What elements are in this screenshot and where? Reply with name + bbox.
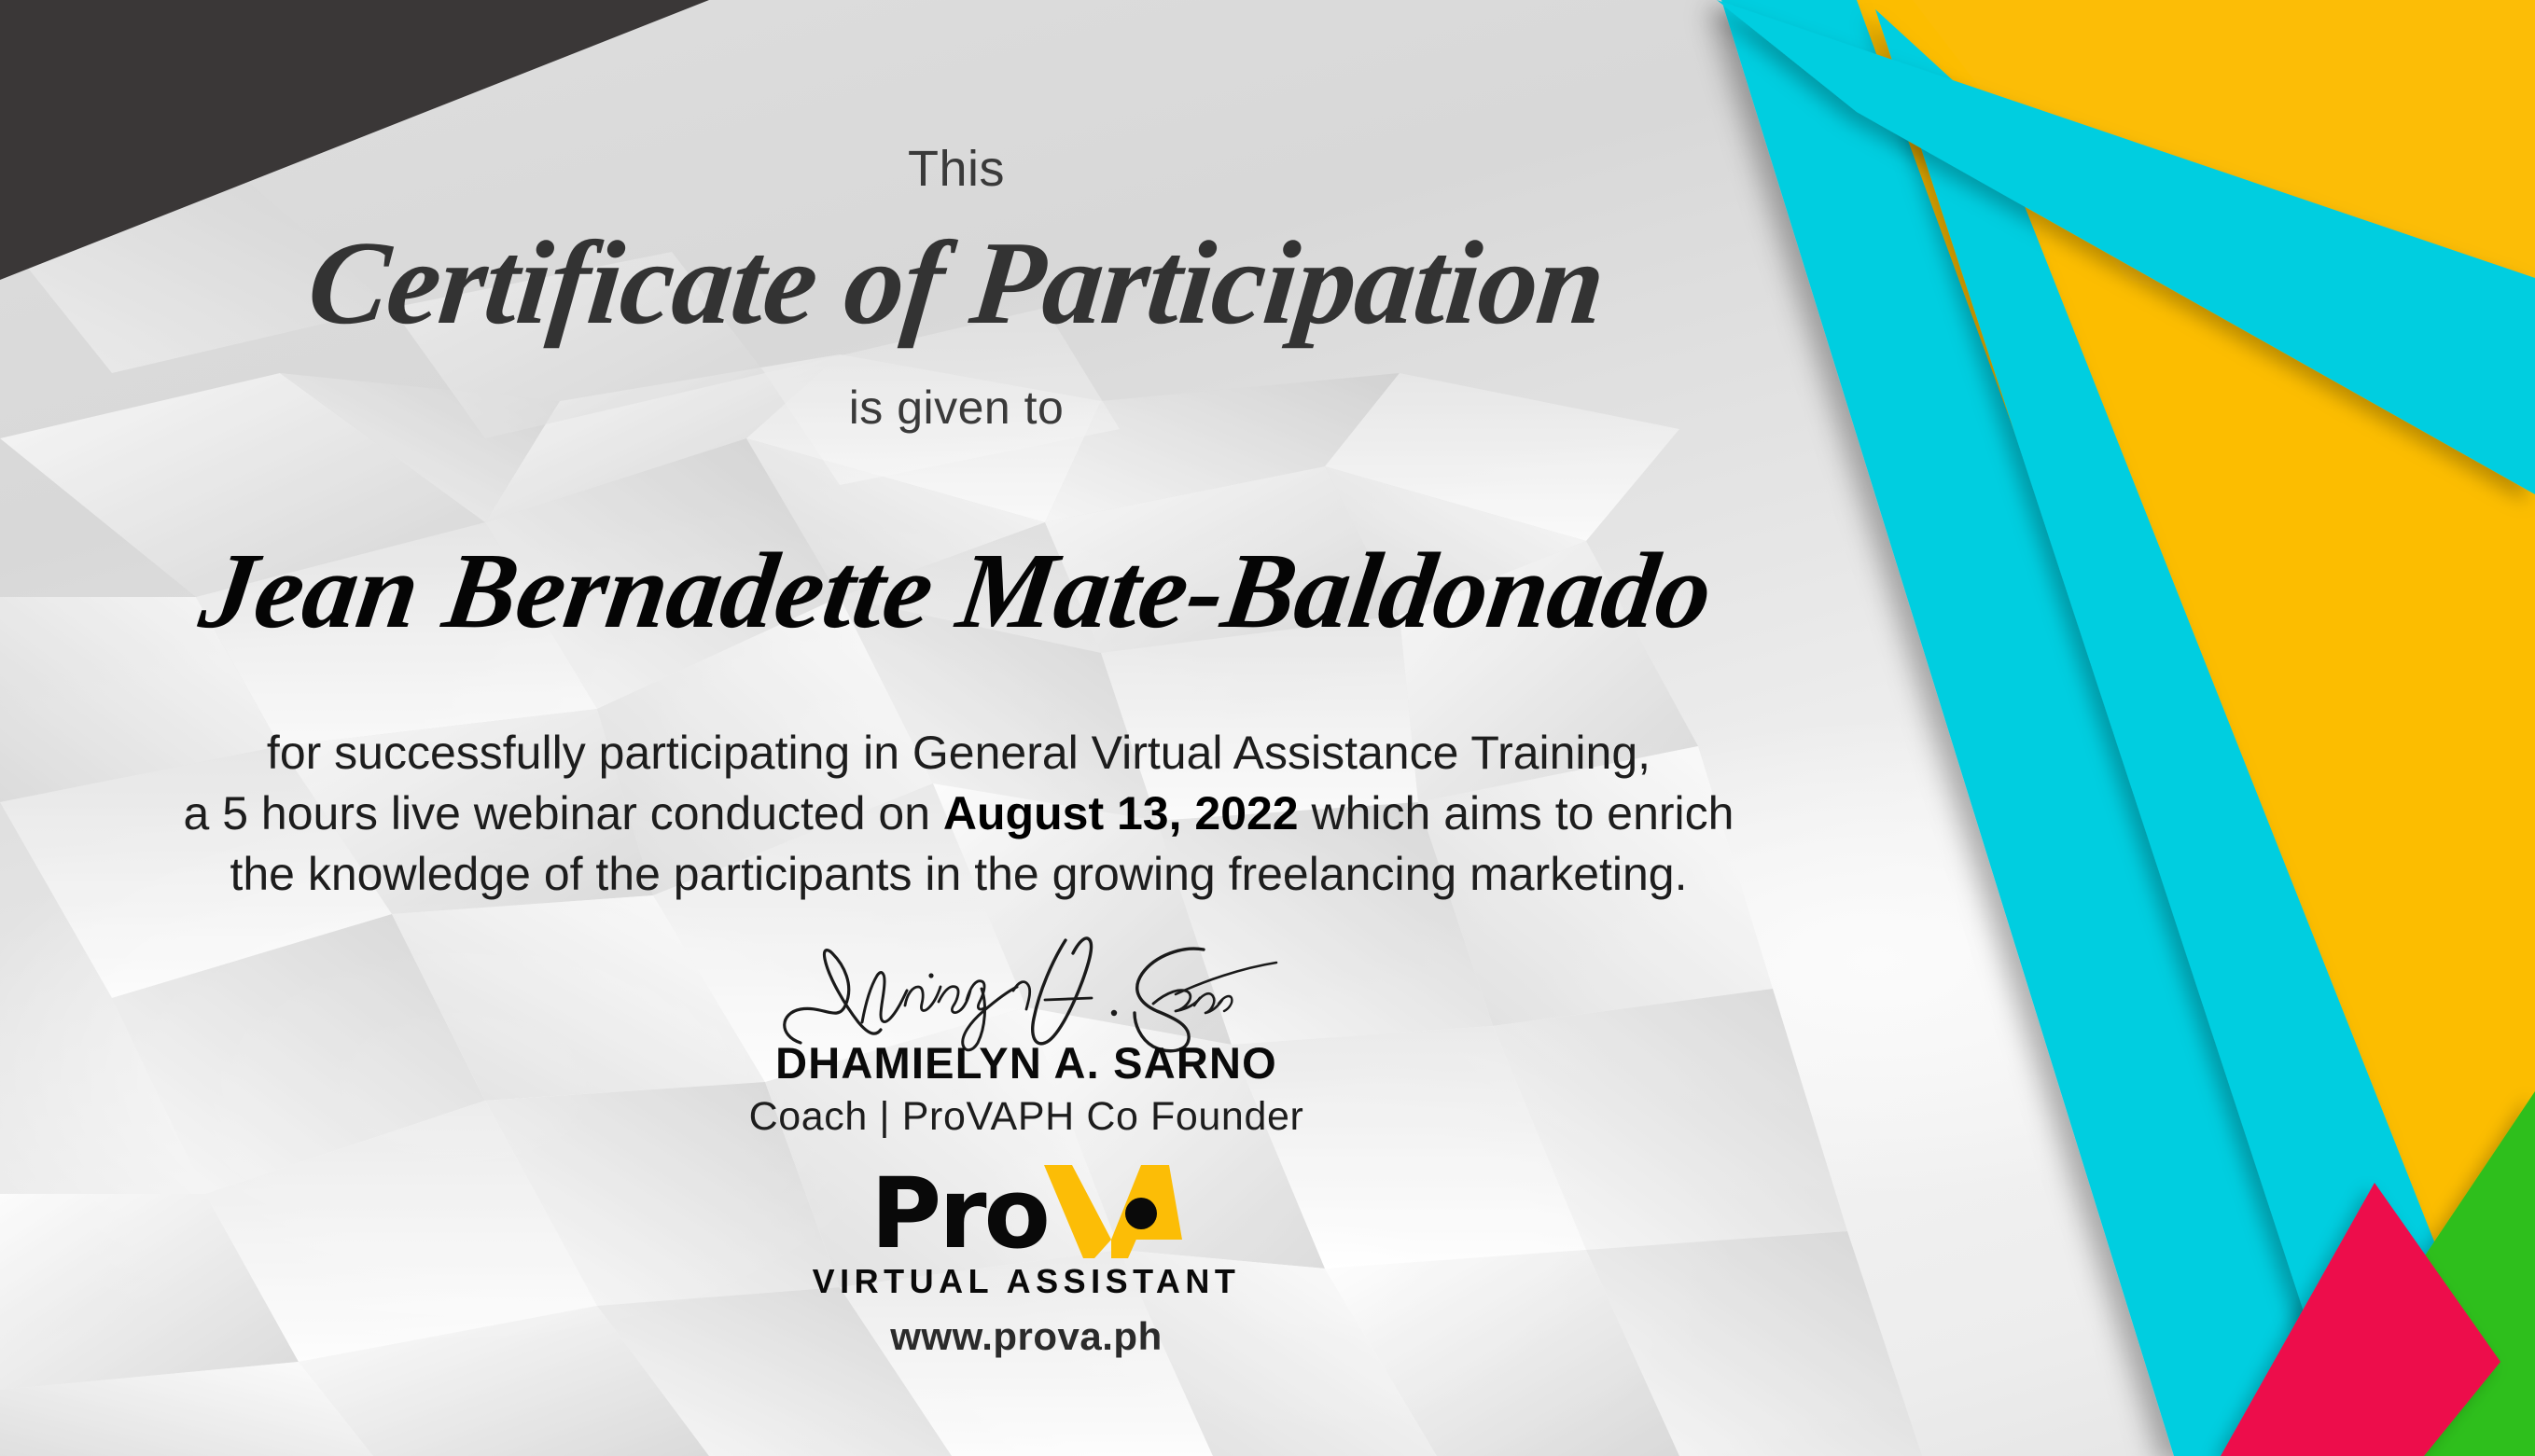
page-title: Certificate of Participation [0,220,1919,345]
body-line-2-before: a 5 hours live webinar conducted on [184,787,943,839]
logo-va-icon [1042,1161,1182,1258]
certificate-document: This Certificate of Participation is giv… [0,0,2535,1456]
body-paragraph: for successfully participating in Genera… [37,723,1880,905]
body-line-2: a 5 hours live webinar conducted on Augu… [37,783,1880,844]
brand-logo: Pro VIRTUAL ASSISTANT www.prova.ph [597,1161,1456,1359]
logo-mark: Pro [597,1161,1456,1258]
intro-line: This [0,140,1913,198]
signature-icon [765,933,1288,1054]
recipient-name: Jean Bernadette Mate-Baldonado [0,530,1921,654]
signatory-role: Coach | ProVAPH Co Founder [597,1094,1456,1140]
certificate-content: This Certificate of Participation is giv… [0,0,1913,1456]
logo-tagline: VIRTUAL ASSISTANT [597,1262,1456,1301]
logo-website: www.prova.ph [597,1314,1456,1359]
body-line-2-after: which aims to enrich [1299,787,1734,839]
logo-word-pro: Pro [871,1171,1048,1258]
body-line-3: the knowledge of the participants in the… [37,844,1880,905]
webinar-date: August 13, 2022 [943,787,1299,839]
signatory-name: DHAMIELYN A. SARNO [597,1037,1456,1089]
given-to-line: is given to [0,381,1913,435]
body-line-1: for successfully participating in Genera… [37,723,1880,783]
signature-block: DHAMIELYN A. SARNO Coach | ProVAPH Co Fo… [597,933,1456,1140]
